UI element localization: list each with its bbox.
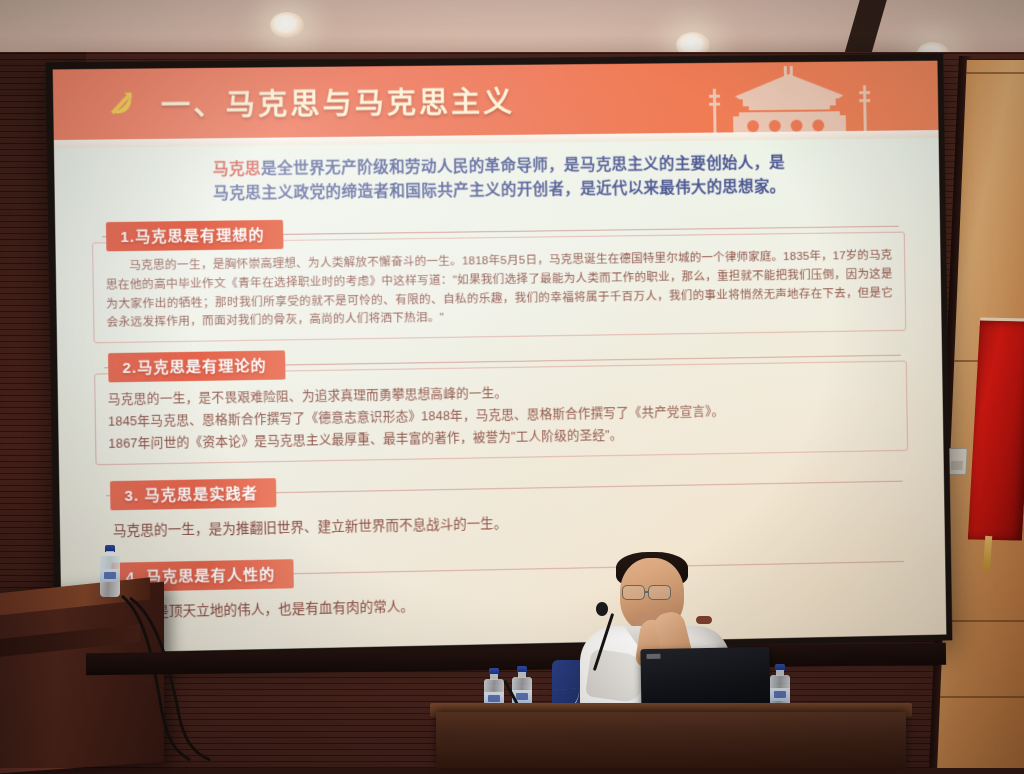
slide-header: 一、马克思与马克思主义: [53, 61, 939, 140]
presenter-desk: [436, 712, 906, 768]
intro-highlight: 马克思: [213, 161, 261, 179]
section-3-body: 马克思的一生，是为推翻旧世界、建立新世界而不息战斗的一生。: [113, 506, 896, 543]
projection-screen: 一、马克思与马克思主义: [45, 54, 952, 660]
ceiling-light-icon: [270, 12, 304, 38]
water-bottle: [100, 545, 120, 597]
eyeglasses-icon: [648, 585, 671, 600]
tiananmen-gate-icon: [665, 65, 913, 133]
slide-intro-paragraph: 马克思是全世界无产阶级和劳动人民的革命导师，是马克思主义的主要创始人，是 马克思…: [91, 144, 905, 212]
eyeglasses-bridge: [645, 591, 649, 593]
section-1-body: 马克思的一生，是胸怀崇高理想、为人类解放不懈奋斗的一生。1818年5月5日，马克…: [105, 247, 893, 333]
lectern-cables: [110, 592, 230, 762]
slide-title: 一、马克思与马克思主义: [161, 79, 516, 125]
section-3-heading: 3. 马克思是实践者: [110, 478, 276, 510]
section-1-heading: 1.马克思是有理想的: [106, 220, 283, 252]
presentation-slide: 一、马克思与马克思主义: [53, 61, 947, 654]
screen-surface: 一、马克思与马克思主义: [53, 61, 947, 654]
slide-section-3: 3. 马克思是实践者 马克思的一生，是为推翻旧世界、建立新世界而不息战斗的一生。: [96, 467, 910, 547]
intro-line2: 马克思主义政党的缔造者和国际共产主义的开创者，是近代以来最伟大的思想家。: [213, 179, 785, 203]
photo-scene: 一、马克思与马克思主义: [0, 0, 1024, 768]
hammer-sickle-party-emblem-icon: [106, 89, 137, 120]
eyeglasses-icon: [622, 585, 645, 600]
presenter-mouth: [696, 616, 712, 624]
intro-line1: 是全世界无产阶级和劳动人民的革命导师，是马克思主义的主要创始人，是: [261, 155, 785, 178]
slide-body: 马克思是全世界无产阶级和劳动人民的革命导师，是马克思主义的主要创始人，是 马克思…: [54, 130, 946, 629]
microphone-head: [596, 602, 608, 616]
section-2-heading: 2.马克思是有理论的: [108, 351, 285, 383]
section-4-body: 马克思是顶天立地的伟人，也是有血有肉的常人。: [114, 586, 897, 624]
slide-section-2: 2.马克思是有理论的 马克思的一生，是不畏艰难险阻、为追求真理而勇攀思想高峰的一…: [94, 341, 908, 466]
laptop-logo: [646, 654, 660, 659]
slide-section-1: 1.马克思是有理想的 马克思的一生，是胸怀崇高理想、为人类解放不懈奋斗的一生。1…: [92, 212, 907, 344]
